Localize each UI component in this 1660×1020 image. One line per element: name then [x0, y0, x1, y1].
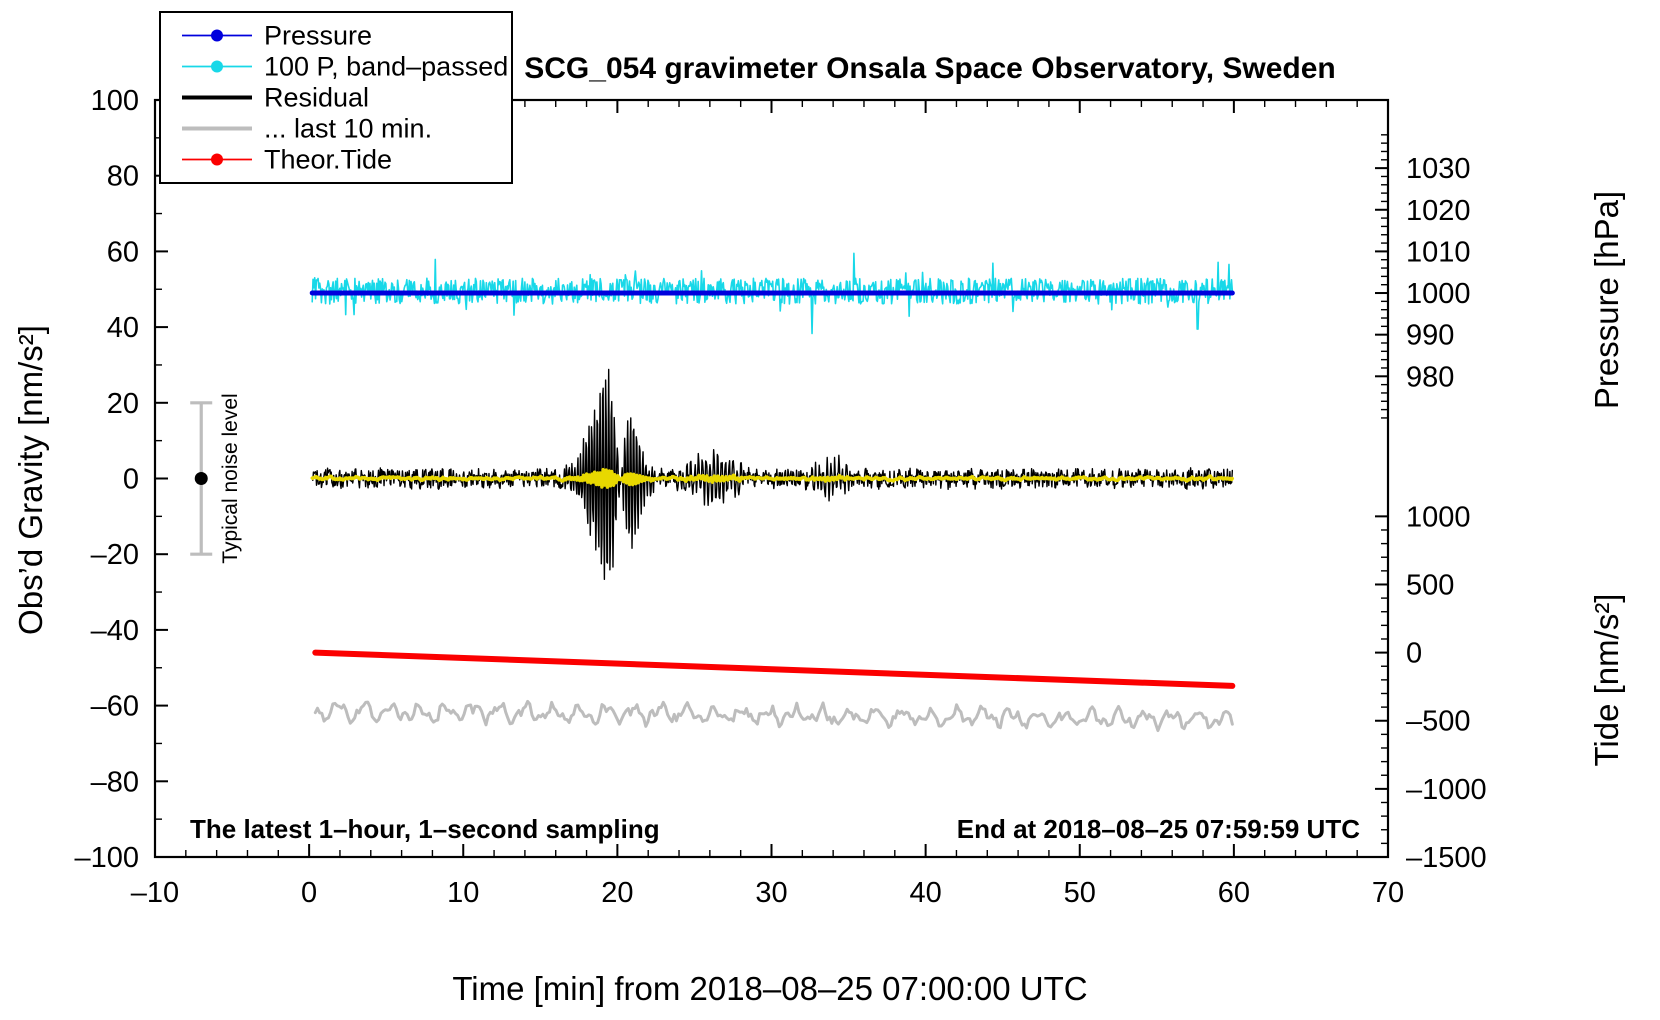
- legend-label: Theor.Tide: [264, 145, 392, 175]
- pressure-tick-label: 1020: [1406, 195, 1471, 227]
- y-tick-label: –100: [74, 842, 139, 874]
- chart-legend[interactable]: Pressure100 P, band–passedResidual... la…: [160, 12, 512, 183]
- y-tick-label: –20: [91, 539, 139, 571]
- y-tick-label: –60: [91, 691, 139, 723]
- y-tick-label: 100: [91, 85, 139, 117]
- tide-tick-label: 1000: [1406, 501, 1471, 533]
- x-tick-label: 10: [447, 877, 479, 909]
- tide-tick-label: –1000: [1406, 774, 1487, 806]
- legend-label: Residual: [264, 83, 369, 113]
- y-tick-label: 40: [107, 312, 139, 344]
- x-tick-label: 30: [755, 877, 787, 909]
- pressure-tick-label: 1010: [1406, 236, 1471, 268]
- y-tick-label: 60: [107, 236, 139, 268]
- y-tick-label: –80: [91, 766, 139, 798]
- legend-label: ... last 10 min.: [264, 114, 432, 144]
- tide-tick-label: –1500: [1406, 842, 1487, 874]
- annotation-bottom-left: The latest 1–hour, 1–second sampling: [190, 814, 660, 844]
- x-tick-label: 50: [1064, 877, 1096, 909]
- y-tick-label: 80: [107, 161, 139, 193]
- y-axis-title-tide: Tide [nm/s²]: [1588, 594, 1625, 767]
- legend-swatch-dot: [211, 30, 223, 42]
- pressure-tick-label: 1030: [1406, 153, 1471, 185]
- y-axis-title-pressure: Pressure [hPa]: [1588, 191, 1625, 409]
- y-axis-title-left: Obs’d Gravity [nm/s²]: [12, 325, 49, 635]
- tide-tick-label: –500: [1406, 706, 1471, 738]
- y-tick-label: –40: [91, 615, 139, 647]
- y-tick-label: 20: [107, 388, 139, 420]
- x-tick-label: 70: [1372, 877, 1404, 909]
- x-axis-title: Time [min] from 2018–08–25 07:00:00 UTC: [452, 970, 1087, 1007]
- legend-swatch-dot: [211, 154, 223, 166]
- legend-swatch-dot: [211, 61, 223, 73]
- chart-root: –10010203040506070 –100–80–60–40–2002040…: [0, 0, 1660, 1020]
- x-tick-label: 40: [909, 877, 941, 909]
- tide-tick-label: 500: [1406, 569, 1454, 601]
- x-tick-label: –10: [131, 877, 179, 909]
- x-tick-label: 60: [1218, 877, 1250, 909]
- legend-label: Pressure: [264, 21, 372, 51]
- noise-center-dot: [195, 472, 208, 485]
- pressure-tick-label: 990: [1406, 320, 1454, 352]
- tide-tick-label: 0: [1406, 638, 1422, 670]
- gravimeter-timeseries-chart: –10010203040506070 –100–80–60–40–2002040…: [0, 0, 1660, 1020]
- noise-level-label: Typical noise level: [219, 393, 242, 563]
- y-tick-label: 0: [123, 464, 139, 496]
- annotation-bottom-right: End at 2018–08–25 07:59:59 UTC: [957, 814, 1360, 844]
- x-tick-label: 0: [301, 877, 317, 909]
- page-title: SCG_054 gravimeter Onsala Space Observat…: [524, 52, 1336, 85]
- pressure-tick-label: 1000: [1406, 278, 1471, 310]
- pressure-tick-label: 980: [1406, 361, 1454, 393]
- legend-label: 100 P, band–passed: [264, 52, 508, 82]
- x-tick-label: 20: [601, 877, 633, 909]
